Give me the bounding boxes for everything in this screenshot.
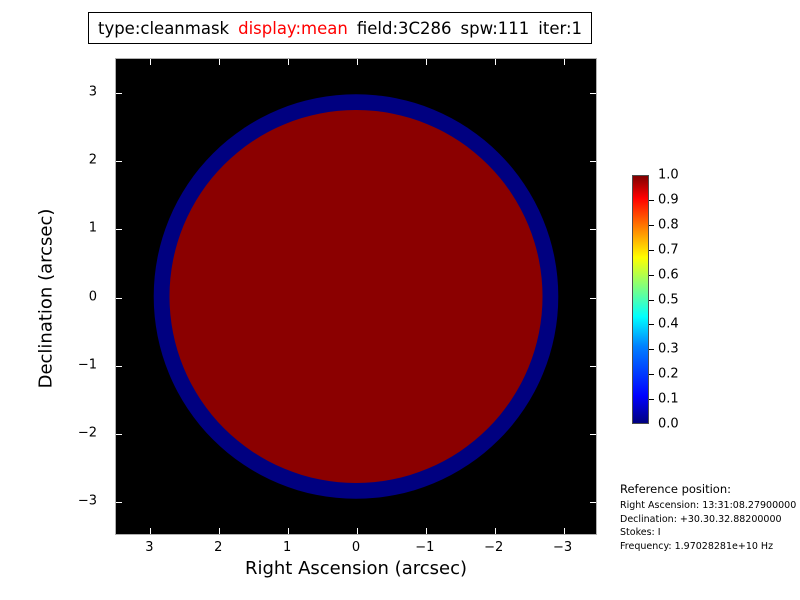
y-axis-tick <box>590 93 596 94</box>
reference-position-panel: Reference position: Right Ascension: 13:… <box>620 482 800 553</box>
colorbar-tick-label: 0.3 <box>658 342 679 357</box>
title-field-label: field:3C286 <box>357 19 452 38</box>
y-axis-tick <box>116 502 122 503</box>
y-axis-tick-label: 3 <box>57 85 97 100</box>
colorbar-tick <box>649 200 654 201</box>
y-axis-tick-label: 0 <box>57 289 97 304</box>
colorbar-tick-label: 0.1 <box>658 392 679 407</box>
x-axis-tick <box>357 528 358 534</box>
x-axis-tick-label: −2 <box>484 540 503 555</box>
x-axis-tick <box>564 528 565 534</box>
colorbar[interactable]: 1.00.90.80.70.60.50.40.30.20.10.0 <box>632 175 649 424</box>
colorbar-tick-label: 1.0 <box>658 168 679 183</box>
y-axis-tick-label: 2 <box>57 153 97 168</box>
colorbar-tick-label: 0.9 <box>658 192 679 207</box>
y-axis-tick <box>590 229 596 230</box>
y-axis-tick <box>590 502 596 503</box>
title-display-label: display:mean <box>238 19 348 38</box>
y-axis-title: Declination (arcsec) <box>36 99 57 499</box>
y-axis-tick-label: −3 <box>57 493 97 508</box>
y-axis-tick-label: −1 <box>57 357 97 372</box>
y-axis-tick <box>590 298 596 299</box>
y-axis-tick-label: 1 <box>57 221 97 236</box>
reference-stokes: Stokes: I <box>620 526 800 540</box>
y-axis-tick <box>116 229 122 230</box>
x-axis-tick <box>495 59 496 65</box>
image-header-title-box: type:cleanmask display:mean field:3C286 … <box>88 12 592 44</box>
colorbar-tick <box>649 399 654 400</box>
inner-mask-disc-shape <box>169 110 542 483</box>
y-axis-tick-label: −2 <box>57 425 97 440</box>
x-axis-tick <box>495 528 496 534</box>
colorbar-tick <box>649 300 654 301</box>
colorbar-tick <box>649 250 654 251</box>
reference-right-ascension: Right Ascension: 13:31:08.27900000 <box>620 499 800 513</box>
colorbar-tick <box>649 374 654 375</box>
y-axis-tick <box>116 161 122 162</box>
colorbar-tick-label: 0.5 <box>658 292 679 307</box>
image-viewer-canvas: type:cleanmask display:mean field:3C286 … <box>0 0 800 600</box>
x-axis-title: Right Ascension (arcsec) <box>115 558 597 579</box>
x-axis-tick <box>564 59 565 65</box>
y-axis-tick <box>590 434 596 435</box>
colorbar-tick-label: 0.4 <box>658 317 679 332</box>
x-axis-tick <box>219 59 220 65</box>
x-axis-tick <box>150 528 151 534</box>
colorbar-tick <box>649 275 654 276</box>
y-axis-tick <box>116 93 122 94</box>
x-axis-tick <box>426 528 427 534</box>
reference-position-heading: Reference position: <box>620 482 800 496</box>
x-axis-tick <box>288 528 289 534</box>
x-axis-tick <box>288 59 289 65</box>
colorbar-tick-label: 0.2 <box>658 367 679 382</box>
x-axis-tick-label: 2 <box>214 540 222 555</box>
reference-declination: Declination: +30.30.32.88200000 <box>620 513 800 527</box>
title-iter-label: iter:1 <box>538 19 582 38</box>
cleanmask-raster <box>116 59 596 534</box>
colorbar-tick <box>649 349 654 350</box>
x-axis-tick-label: 1 <box>283 540 291 555</box>
x-axis-tick-label: 3 <box>145 540 153 555</box>
title-spw-label: spw:111 <box>461 19 530 38</box>
x-axis-tick-label: −3 <box>553 540 572 555</box>
colorbar-gradient <box>632 175 649 424</box>
y-axis-tick <box>116 434 122 435</box>
y-axis-tick <box>590 366 596 367</box>
colorbar-tick-label: 0.8 <box>658 217 679 232</box>
x-axis-tick <box>219 528 220 534</box>
title-type-label: type:cleanmask <box>98 19 229 38</box>
sky-image-plot-area[interactable] <box>115 58 597 535</box>
y-axis-tick <box>116 298 122 299</box>
y-axis-tick <box>590 161 596 162</box>
x-axis-tick-label: 0 <box>352 540 360 555</box>
colorbar-tick-label: 0.6 <box>658 267 679 282</box>
x-axis-tick-label: −1 <box>415 540 434 555</box>
colorbar-tick <box>649 225 654 226</box>
x-axis-tick <box>426 59 427 65</box>
reference-frequency: Frequency: 1.97028281e+10 Hz <box>620 540 800 554</box>
colorbar-tick-label: 0.0 <box>658 417 679 432</box>
x-axis-tick <box>357 59 358 65</box>
y-axis-tick <box>116 366 122 367</box>
colorbar-tick <box>649 324 654 325</box>
colorbar-tick-label: 0.7 <box>658 242 679 257</box>
x-axis-tick <box>150 59 151 65</box>
